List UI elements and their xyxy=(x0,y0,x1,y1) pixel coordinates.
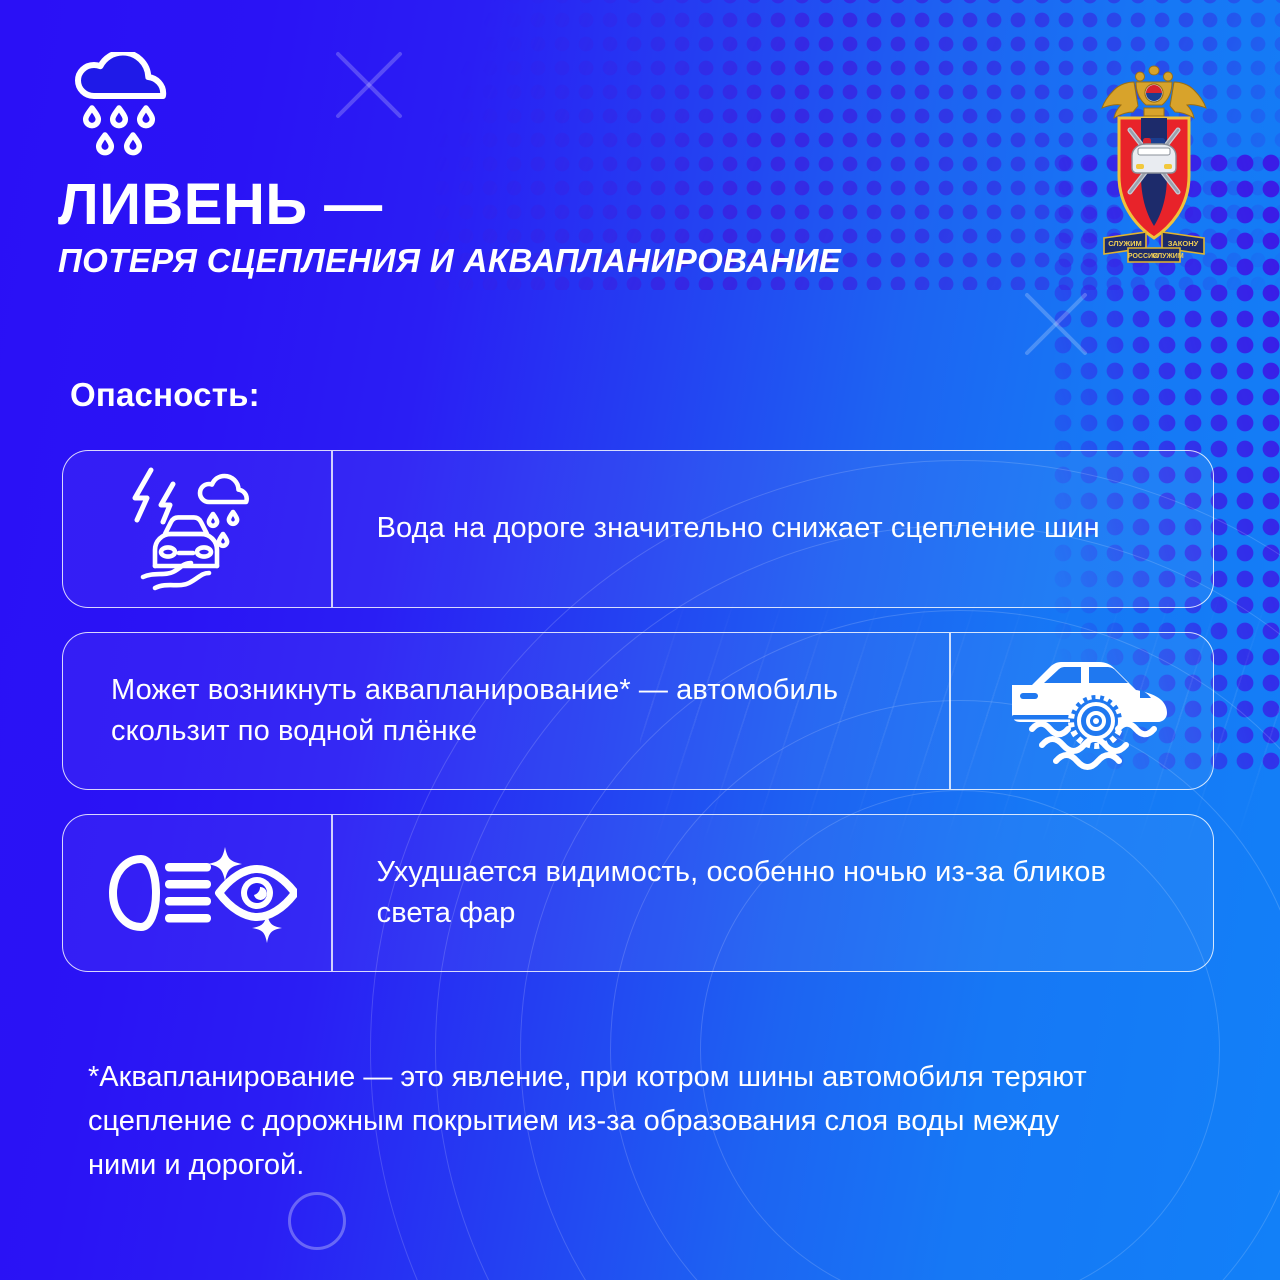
headlight-eye-glare-icon xyxy=(63,815,331,971)
danger-card: Вода на дороге значительно снижает сцепл… xyxy=(62,450,1214,608)
danger-card-list: Вода на дороге значительно снижает сцепл… xyxy=(62,450,1214,972)
danger-card: Ухудшается видимость, особенно ночью из-… xyxy=(62,814,1214,972)
emblem-ribbon-center-bottom: СЛУЖИМ xyxy=(1152,253,1184,260)
page-subtitle: ПОТЕРЯ СЦЕПЛЕНИЯ И АКВАПЛАНИРОВАНИЕ xyxy=(58,244,841,279)
gibdd-emblem: СЛУЖИМ ЗАКОНУ РОССИИ СЛУЖИМ xyxy=(1086,52,1222,272)
danger-card-text: Может возникнуть аквапланирование* — авт… xyxy=(63,633,949,789)
car-rain-lightning-skid-icon xyxy=(63,451,331,607)
emblem-ribbon-right: ЗАКОНУ xyxy=(1168,239,1199,248)
danger-card-text: Вода на дороге значительно снижает сцепл… xyxy=(333,451,1213,607)
danger-card: Может возникнуть аквапланирование* — авт… xyxy=(62,632,1214,790)
ring-decoration xyxy=(288,1192,346,1250)
danger-card-text: Ухудшается видимость, особенно ночью из-… xyxy=(333,815,1213,971)
poster-header: ЛИВЕНЬ — ПОТЕРЯ СЦЕПЛЕНИЯ И АКВАПЛАНИРОВ… xyxy=(58,52,1222,279)
car-aquaplaning-water-icon xyxy=(951,633,1213,789)
footnote-aquaplaning-definition: *Аквапланирование — это явление, при кот… xyxy=(88,1055,1098,1187)
page-title: ЛИВЕНЬ — xyxy=(58,176,841,234)
header-text-block: ЛИВЕНЬ — ПОТЕРЯ СЦЕПЛЕНИЯ И АКВАПЛАНИРОВ… xyxy=(58,52,841,279)
x-decoration-icon xyxy=(1020,288,1092,360)
section-heading-danger: Опасность: xyxy=(70,376,260,414)
emblem-ribbon-left: СЛУЖИМ xyxy=(1108,239,1142,248)
infographic-poster: ЛИВЕНЬ — ПОТЕРЯ СЦЕПЛЕНИЯ И АКВАПЛАНИРОВ… xyxy=(0,0,1280,1280)
rain-cloud-icon xyxy=(58,52,841,162)
